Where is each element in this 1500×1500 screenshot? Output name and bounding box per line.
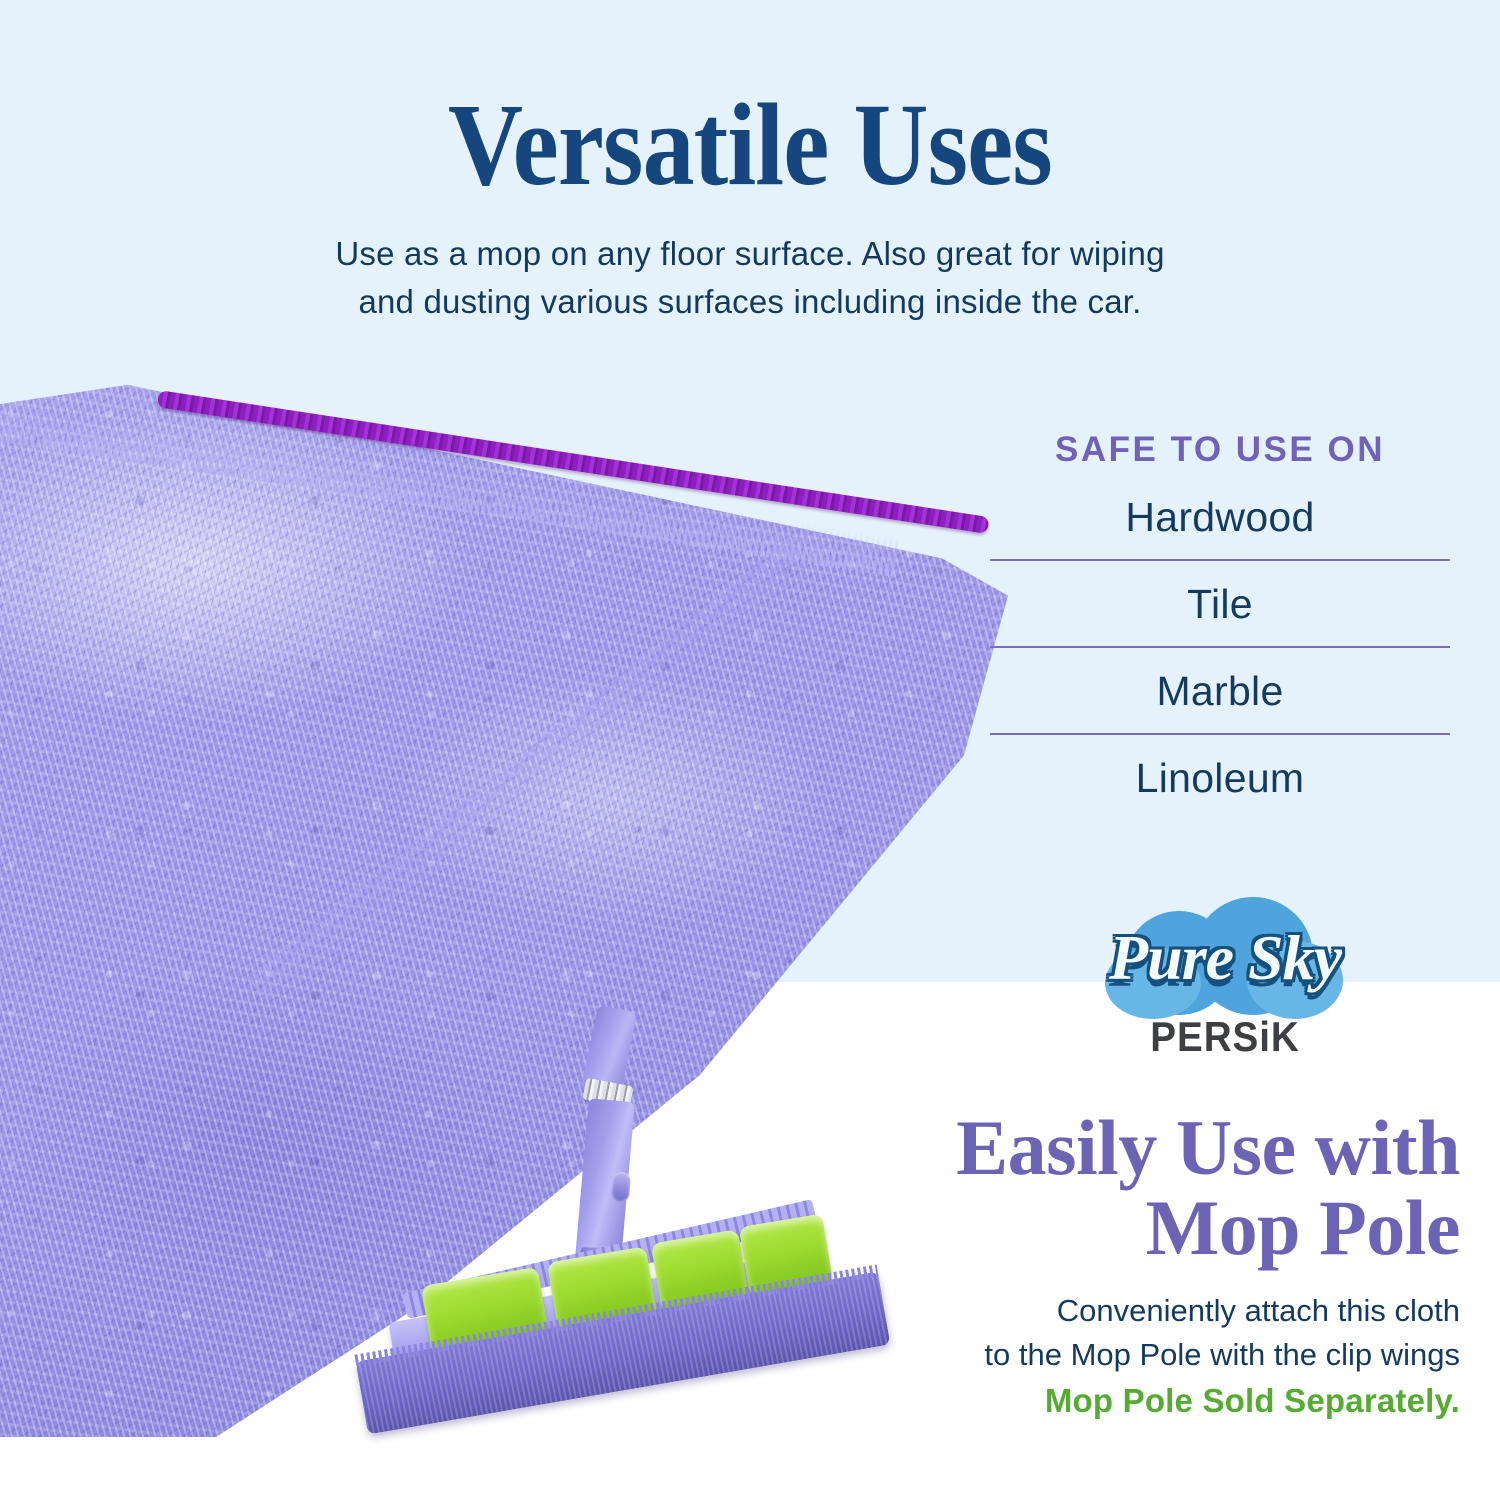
mop-pole-heading-line-1: Easily Use with xyxy=(956,1104,1460,1191)
safe-to-use-panel: SAFE TO USE ON Hardwood Tile Marble Lino… xyxy=(990,430,1450,820)
brand-name-pure-sky: Pure Sky xyxy=(1055,921,1395,995)
infographic-canvas: Versatile Uses Use as a mop on any floor… xyxy=(0,0,1500,1500)
mop-pole-release-button xyxy=(611,1171,632,1202)
safe-to-use-list: Hardwood Tile Marble Linoleum xyxy=(990,470,1450,820)
safe-to-use-heading: SAFE TO USE ON xyxy=(990,430,1450,470)
list-item: Marble xyxy=(990,646,1450,733)
page-subtitle: Use as a mop on any floor surface. Also … xyxy=(0,204,1500,326)
list-item: Hardwood xyxy=(990,470,1450,559)
page-title: Versatile Uses xyxy=(90,0,1410,204)
mop-pole-description: Conveniently attach this cloth to the Mo… xyxy=(830,1269,1460,1377)
mop-pole-sold-separately-note: Mop Pole Sold Separately. xyxy=(830,1377,1460,1420)
brand-logo: Pure Sky PERSiK xyxy=(1055,895,1395,1070)
mop-pole-heading-line-2: Mop Pole xyxy=(1146,1184,1460,1271)
page-subtitle-line-2: and dusting various surfaces including i… xyxy=(358,283,1141,320)
mop-pole-copy-block: Easily Use with Mop Pole Conveniently at… xyxy=(830,1108,1460,1420)
header-block: Versatile Uses Use as a mop on any floor… xyxy=(0,0,1500,326)
list-item: Linoleum xyxy=(990,733,1450,820)
page-subtitle-line-1: Use as a mop on any floor surface. Also … xyxy=(335,235,1164,272)
list-item: Tile xyxy=(990,559,1450,646)
mop-pole-heading: Easily Use with Mop Pole xyxy=(830,1108,1460,1269)
brand-name-persik: PERSiK xyxy=(1069,1013,1382,1061)
mop-pole-description-line-2: to the Mop Pole with the clip wings xyxy=(984,1337,1460,1372)
mop-pole-description-line-1: Conveniently attach this cloth xyxy=(1057,1293,1460,1328)
